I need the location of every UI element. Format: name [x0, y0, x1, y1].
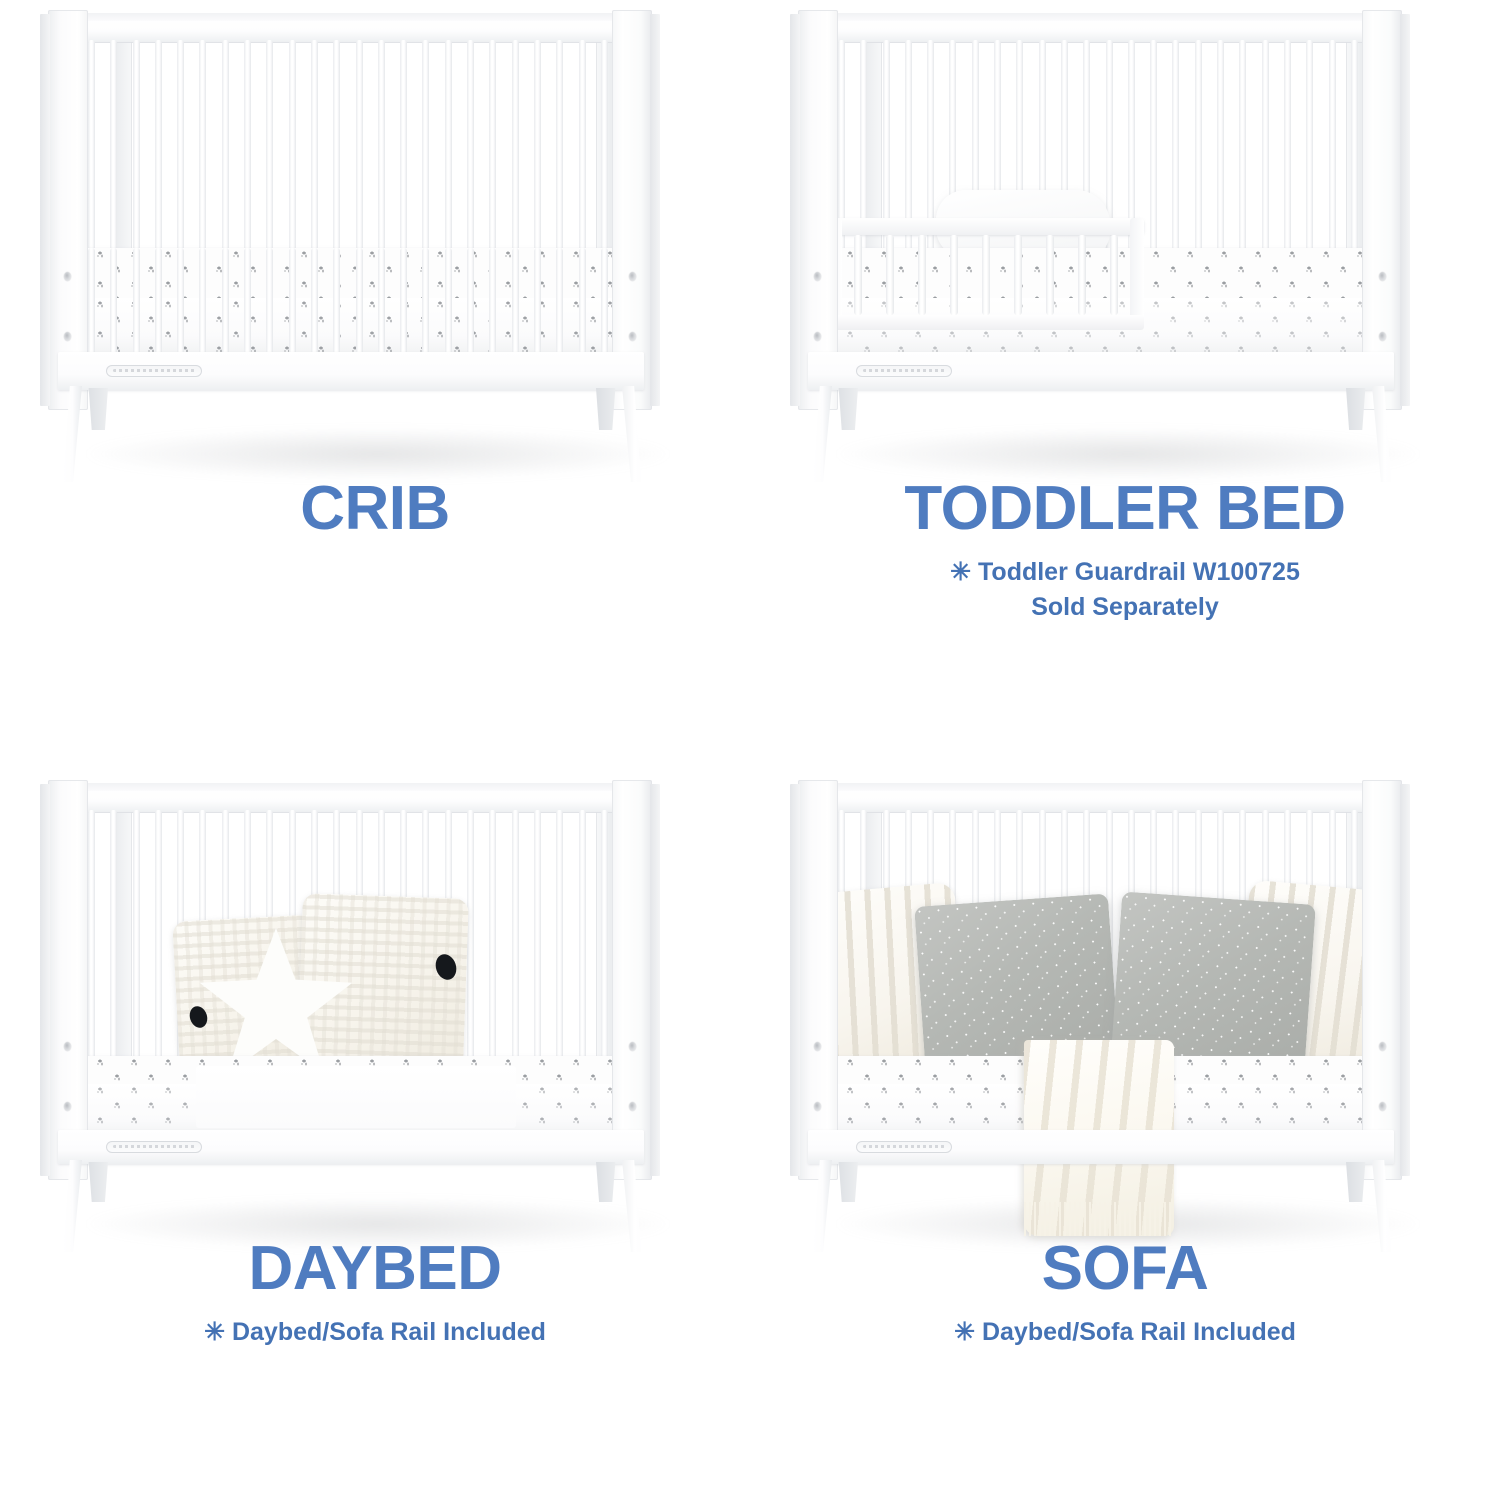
slat	[155, 248, 162, 360]
screw-hole-icon	[1379, 1042, 1386, 1051]
slat	[110, 248, 117, 360]
screw-hole-icon	[629, 332, 636, 341]
screw-hole-icon	[1379, 272, 1386, 281]
slat	[199, 248, 206, 360]
slat	[918, 235, 926, 315]
slat	[266, 248, 273, 360]
slat	[289, 248, 296, 360]
slat	[222, 248, 229, 360]
toddler-top-rail-cap	[802, 13, 1400, 21]
screw-hole-icon	[64, 1102, 71, 1111]
sofa-top-rail	[798, 788, 1403, 812]
daybed-sheet-fold	[196, 1066, 516, 1128]
slat	[1078, 235, 1086, 315]
toddler-bed-note-line-2: Sold Separately	[750, 591, 1500, 624]
sofa-post-right-edge	[1400, 784, 1410, 1176]
sofa-note: ✳ Daybed/Sofa Rail Included	[750, 1316, 1500, 1349]
crib-caption: CRIB	[0, 478, 750, 540]
slat	[88, 248, 95, 360]
slat	[1014, 235, 1022, 315]
sofa-illustration	[750, 770, 1500, 1240]
slat	[512, 248, 519, 360]
sofa-post-right	[1362, 780, 1402, 1180]
slat	[950, 235, 958, 315]
crib-post-right	[612, 10, 652, 410]
throw-fringe	[1024, 1202, 1174, 1236]
screw-hole-icon	[629, 1102, 636, 1111]
slat	[489, 248, 496, 360]
crib-post-right-edge	[650, 14, 660, 406]
crib-base-rail	[58, 352, 644, 390]
slat	[356, 248, 363, 360]
sofa-post-left-edge	[790, 784, 800, 1176]
slat	[982, 235, 990, 315]
screw-hole-icon	[814, 272, 821, 281]
crib-post-left-edge	[40, 14, 50, 406]
slat	[886, 235, 894, 315]
screw-hole-icon	[64, 1042, 71, 1051]
slat	[244, 248, 251, 360]
daybed-base-rail	[58, 1130, 644, 1164]
sofa-leg-back-right	[1346, 1162, 1368, 1202]
guardrail-top-rail	[828, 218, 1144, 235]
floor-shadow	[88, 428, 668, 480]
daybed-note: ✳ Daybed/Sofa Rail Included	[0, 1316, 750, 1349]
panel-crib: CRIB	[0, 0, 750, 760]
sofa-caption: SOFA ✳ Daybed/Sofa Rail Included	[750, 1238, 1500, 1349]
toddler-bed-illustration	[750, 0, 1500, 470]
crib-post-left	[48, 10, 88, 410]
panel-title-crib: CRIB	[0, 478, 750, 540]
slat	[467, 248, 474, 360]
brand-logo-plate	[856, 365, 952, 377]
toddler-guardrail	[828, 218, 1144, 330]
slat	[445, 248, 452, 360]
toddler-post-left	[798, 10, 838, 410]
panel-title-toddler-bed: TODDLER BED	[750, 478, 1500, 540]
panel-daybed: DAYBED ✳ Daybed/Sofa Rail Included	[0, 760, 750, 1500]
daybed-caption: DAYBED ✳ Daybed/Sofa Rail Included	[0, 1238, 750, 1349]
slat	[1046, 235, 1054, 315]
product-conversion-infographic: CRIB	[0, 0, 1500, 1500]
slat	[1110, 235, 1118, 315]
sofa-top-rail-cap	[802, 783, 1400, 791]
screw-hole-icon	[64, 332, 71, 341]
slat	[534, 248, 541, 360]
daybed-post-left-edge	[40, 784, 50, 1176]
crib-illustration	[0, 0, 750, 470]
slat	[177, 248, 184, 360]
screw-hole-icon	[814, 332, 821, 341]
slat	[422, 248, 429, 360]
screw-hole-icon	[629, 1042, 636, 1051]
guardrail-bottom-rail	[828, 315, 1144, 330]
daybed-post-left	[48, 780, 88, 1180]
panel-toddler-bed: TODDLER BED ✳ Toddler Guardrail W100725 …	[750, 0, 1500, 760]
slat	[311, 248, 318, 360]
crib-top-rail-cap	[52, 13, 650, 21]
daybed-top-rail	[48, 788, 653, 812]
floor-shadow	[838, 428, 1418, 480]
toddler-post-right-edge	[1400, 14, 1410, 406]
sofa-leg-back-left	[836, 1162, 858, 1202]
panel-sofa: SOFA ✳ Daybed/Sofa Rail Included	[750, 760, 1500, 1500]
daybed-leg-back-right	[596, 1162, 618, 1202]
sofa-post-left	[798, 780, 838, 1180]
crib-top-rail	[48, 18, 653, 42]
toddler-leg-back-left	[836, 388, 858, 430]
daybed-post-right-edge	[650, 784, 660, 1176]
slat	[601, 248, 608, 360]
guardrail-slat-group	[854, 235, 1118, 315]
daybed-leg-back-left	[86, 1162, 108, 1202]
daybed-post-right	[612, 780, 652, 1180]
slat	[133, 248, 140, 360]
guardrail-end-right	[1130, 218, 1144, 330]
slat	[556, 248, 563, 360]
slat	[854, 235, 862, 315]
daybed-top-rail-cap	[52, 783, 650, 791]
brand-logo-plate	[106, 1141, 202, 1153]
brand-logo-plate	[856, 1141, 952, 1153]
screw-hole-icon	[814, 1102, 821, 1111]
toddler-base-rail	[808, 352, 1394, 390]
slat	[579, 248, 586, 360]
daybed-illustration	[0, 770, 750, 1240]
screw-hole-icon	[64, 272, 71, 281]
screw-hole-icon	[1379, 332, 1386, 341]
sofa-base-rail	[808, 1130, 1394, 1164]
toddler-bed-note-line-1: ✳ Toddler Guardrail W100725	[750, 556, 1500, 589]
slat	[333, 248, 340, 360]
toddler-post-right	[1362, 10, 1402, 410]
moon-pillow	[332, 918, 488, 1074]
moon-eye-icon	[432, 952, 459, 983]
panel-title-daybed: DAYBED	[0, 1238, 750, 1300]
screw-hole-icon	[814, 1042, 821, 1051]
screw-hole-icon	[1379, 1102, 1386, 1111]
screw-hole-icon	[629, 272, 636, 281]
toddler-post-left-edge	[790, 14, 800, 406]
toddler-top-rail	[798, 18, 1403, 42]
toddler-bed-caption: TODDLER BED ✳ Toddler Guardrail W100725 …	[750, 478, 1500, 623]
panel-title-sofa: SOFA	[750, 1238, 1500, 1300]
crib-slat-group-front	[88, 248, 608, 360]
brand-logo-plate	[106, 365, 202, 377]
slat	[400, 248, 407, 360]
slat	[378, 248, 385, 360]
crib-leg-back-left	[86, 388, 108, 430]
